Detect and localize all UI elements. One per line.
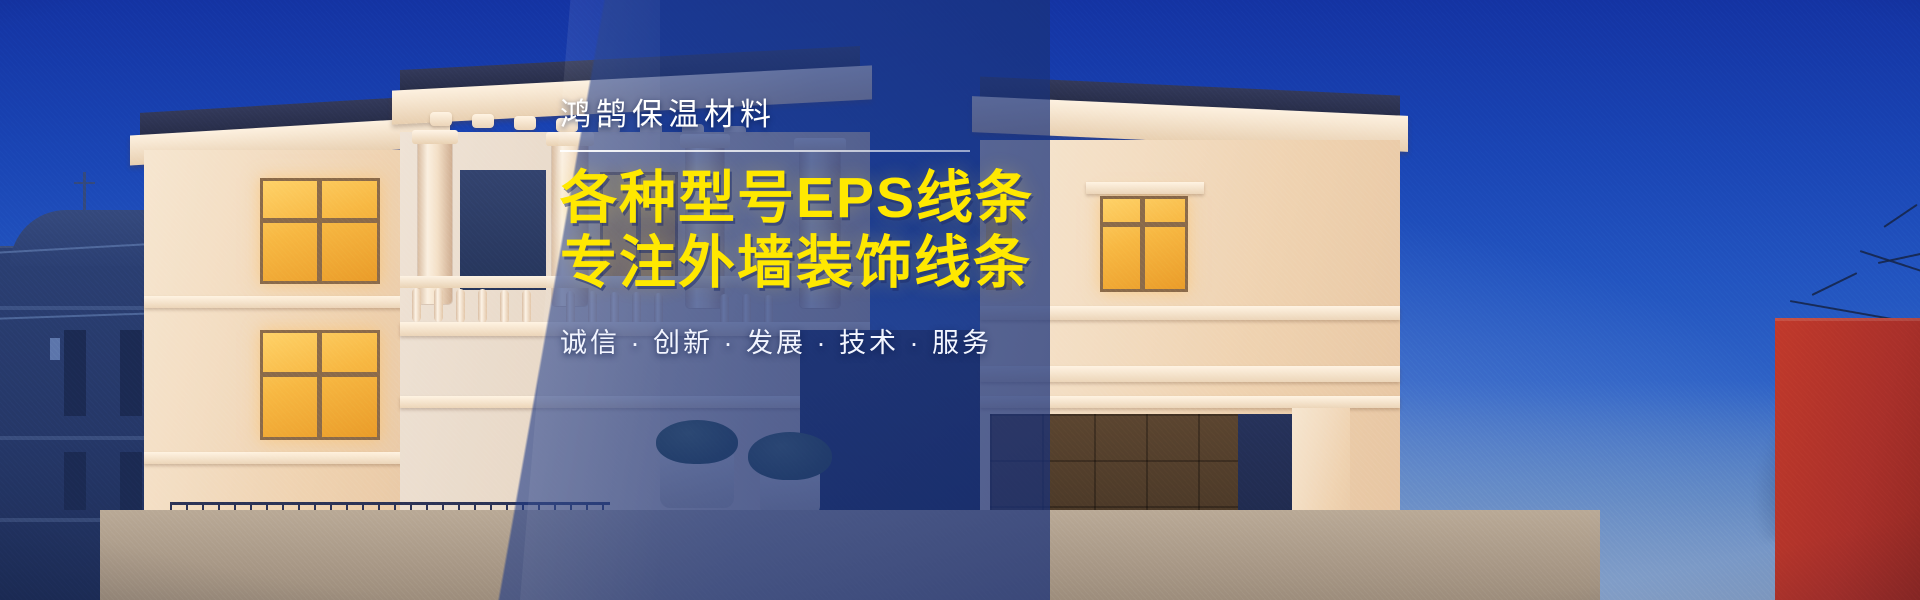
headline-line-2: 专注外墙装饰线条: [560, 231, 1030, 295]
divider-rule: [560, 150, 970, 152]
brand-name: 鸿鹄保温材料: [560, 96, 1030, 133]
red-wall-panel: [1775, 318, 1920, 600]
banner-text-block: 鸿鹄保温材料 各种型号EPS线条 专注外墙装饰线条 诚信 · 创新 · 发展 ·…: [560, 96, 1030, 360]
tagline: 诚信 · 创新 · 发展 · 技术 · 服务: [560, 321, 1030, 360]
headline-line-1: 各种型号EPS线条: [560, 166, 1030, 230]
hero-banner: 鸿鹄保温材料 各种型号EPS线条 专注外墙装饰线条 诚信 · 创新 · 发展 ·…: [0, 0, 1920, 600]
